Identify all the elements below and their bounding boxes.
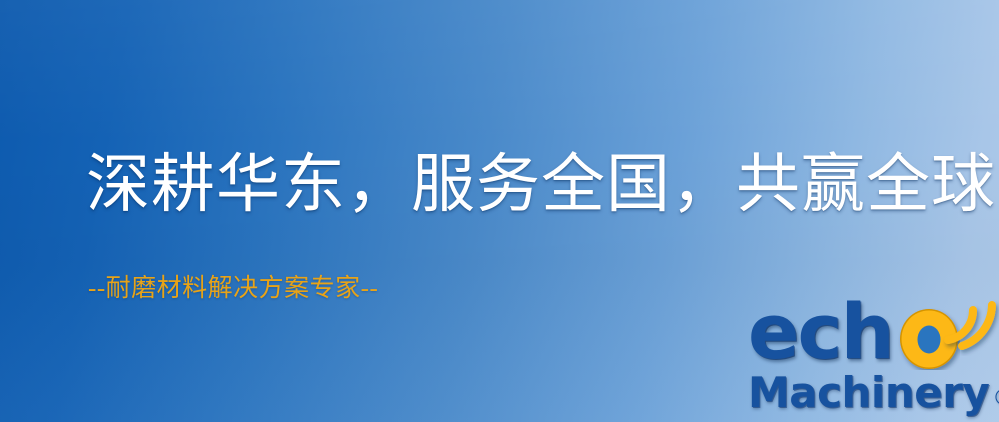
- logo-wordmark: ech: [748, 298, 994, 374]
- logo-machinery-row: Machinery ®: [748, 372, 999, 414]
- banner-headline: 深耕华东，服务全国，共赢全球: [86, 152, 996, 217]
- hero-banner: 深耕华东，服务全国，共赢全球 --耐磨材料解决方案专家-- ech: [0, 0, 999, 422]
- banner-subtitle: --耐磨材料解决方案专家--: [88, 268, 378, 304]
- logo-machinery-text: Machinery: [748, 372, 989, 414]
- registered-trademark-icon: ®: [992, 388, 999, 410]
- echo-wave-arcs-icon: [940, 294, 999, 356]
- company-logo: ech: [744, 298, 994, 420]
- logo-echo-lead-text: ech: [748, 294, 893, 370]
